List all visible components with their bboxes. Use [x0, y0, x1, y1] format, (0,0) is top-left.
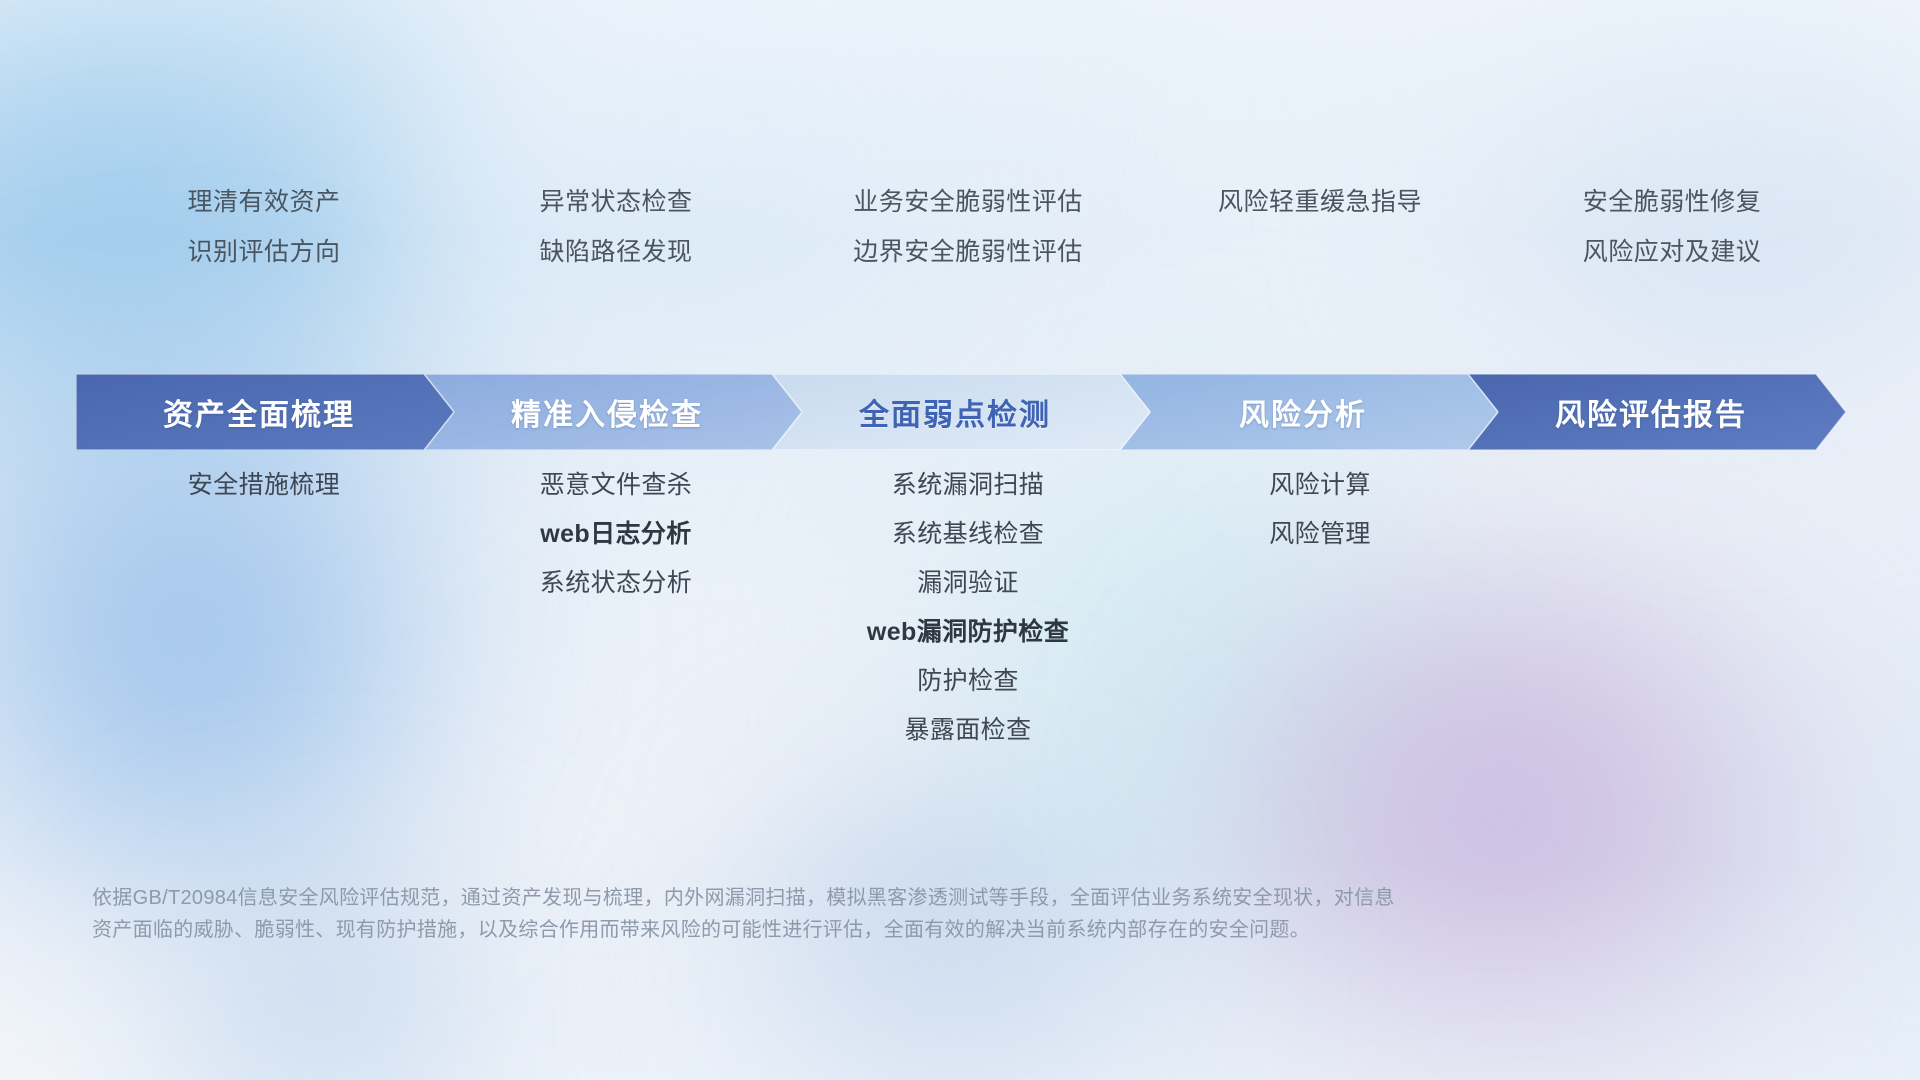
stage-item: 防护检查: [917, 661, 1019, 697]
top-caption-line: 缺陷路径发现: [539, 232, 692, 268]
footer-line-1: 依据GB/T20984信息安全风险评估规范，通过资产发现与梳理，内外网漏洞扫描，…: [92, 882, 1732, 914]
stage-item: 安全措施梳理: [188, 465, 340, 501]
top-caption-col-2: 异常状态检查缺陷路径发现: [440, 182, 792, 268]
footer-line-2: 资产面临的威胁、脆弱性、现有防护措施，以及综合作用而带来风险的可能性进行评估，全…: [92, 914, 1732, 946]
stage-items-col-1: 业务系统梳理安全措施梳理: [88, 416, 440, 746]
stage-item: 系统状态分析: [540, 563, 692, 599]
top-caption-line: 理清有效资产: [187, 182, 340, 218]
top-caption-line: 风险应对及建议: [1583, 232, 1762, 268]
stage-arrow-4[interactable]: 风险分析: [1120, 374, 1498, 450]
stage-arrow-5[interactable]: 风险评估报告: [1468, 374, 1846, 450]
stage-item: 系统基线检查: [892, 514, 1044, 550]
stage-items-row: 业务系统梳理安全措施梳理webshell检查恶意文件查杀web日志分析系统状态分…: [88, 416, 1848, 746]
top-caption-col-1: 理清有效资产识别评估方向: [88, 182, 440, 268]
stage-item: web漏洞防护检查: [867, 612, 1069, 648]
top-caption-col-5: 安全脆弱性修复风险应对及建议: [1496, 182, 1848, 268]
stage-item: 漏洞验证: [917, 563, 1019, 599]
stage-item: web日志分析: [540, 514, 691, 550]
stage-arrow-1[interactable]: 资产全面梳理: [76, 374, 454, 450]
stage-arrow-label: 资产全面梳理: [70, 390, 448, 434]
stage-item: 风险计算: [1269, 465, 1371, 501]
stage-arrow-label: 精准入侵检查: [418, 390, 796, 434]
stage-items-col-5: 安全风险加固及建议: [1496, 416, 1848, 746]
top-caption-line: 风险轻重缓急指导: [1218, 182, 1422, 218]
stage-item: 系统漏洞扫描: [892, 465, 1044, 501]
stage-arrow-label: 风险分析: [1114, 390, 1492, 434]
stage-arrow-2[interactable]: 精准入侵检查: [424, 374, 802, 450]
top-caption-line: 识别评估方向: [187, 232, 340, 268]
process-diagram: 理清有效资产识别评估方向异常状态检查缺陷路径发现业务安全脆弱性评估边界安全脆弱性…: [0, 0, 1920, 1080]
stage-arrow-banner: 资产全面梳理精准入侵检查全面弱点检测风险分析风险评估报告: [76, 374, 1846, 450]
stage-item: 风险管理: [1269, 514, 1371, 550]
top-caption-col-4: 风险轻重缓急指导: [1144, 182, 1496, 268]
stage-arrow-label: 全面弱点检测: [766, 390, 1144, 434]
stage-item: 暴露面检查: [904, 710, 1031, 746]
top-caption-line: 业务安全脆弱性评估: [853, 182, 1083, 218]
stage-items-col-2: webshell检查恶意文件查杀web日志分析系统状态分析: [440, 416, 792, 746]
footer-description: 依据GB/T20984信息安全风险评估规范，通过资产发现与梳理，内外网漏洞扫描，…: [92, 882, 1732, 947]
top-caption-col-3: 业务安全脆弱性评估边界安全脆弱性评估: [792, 182, 1144, 268]
top-caption-line: 边界安全脆弱性评估: [853, 232, 1083, 268]
top-caption-line: 异常状态检查: [539, 182, 692, 218]
stage-arrow-3[interactable]: 全面弱点检测: [772, 374, 1150, 450]
stage-items-col-4: 已有安全控制措施风险计算风险管理: [1144, 416, 1496, 746]
top-caption-line: 安全脆弱性修复: [1583, 182, 1762, 218]
top-caption-row: 理清有效资产识别评估方向异常状态检查缺陷路径发现业务安全脆弱性评估边界安全脆弱性…: [88, 182, 1848, 268]
stage-item: 恶意文件查杀: [540, 465, 692, 501]
stage-arrow-label: 风险评估报告: [1462, 390, 1840, 434]
stage-items-col-3: web安全扫描系统漏洞扫描系统基线检查漏洞验证web漏洞防护检查防护检查暴露面检…: [792, 416, 1144, 746]
